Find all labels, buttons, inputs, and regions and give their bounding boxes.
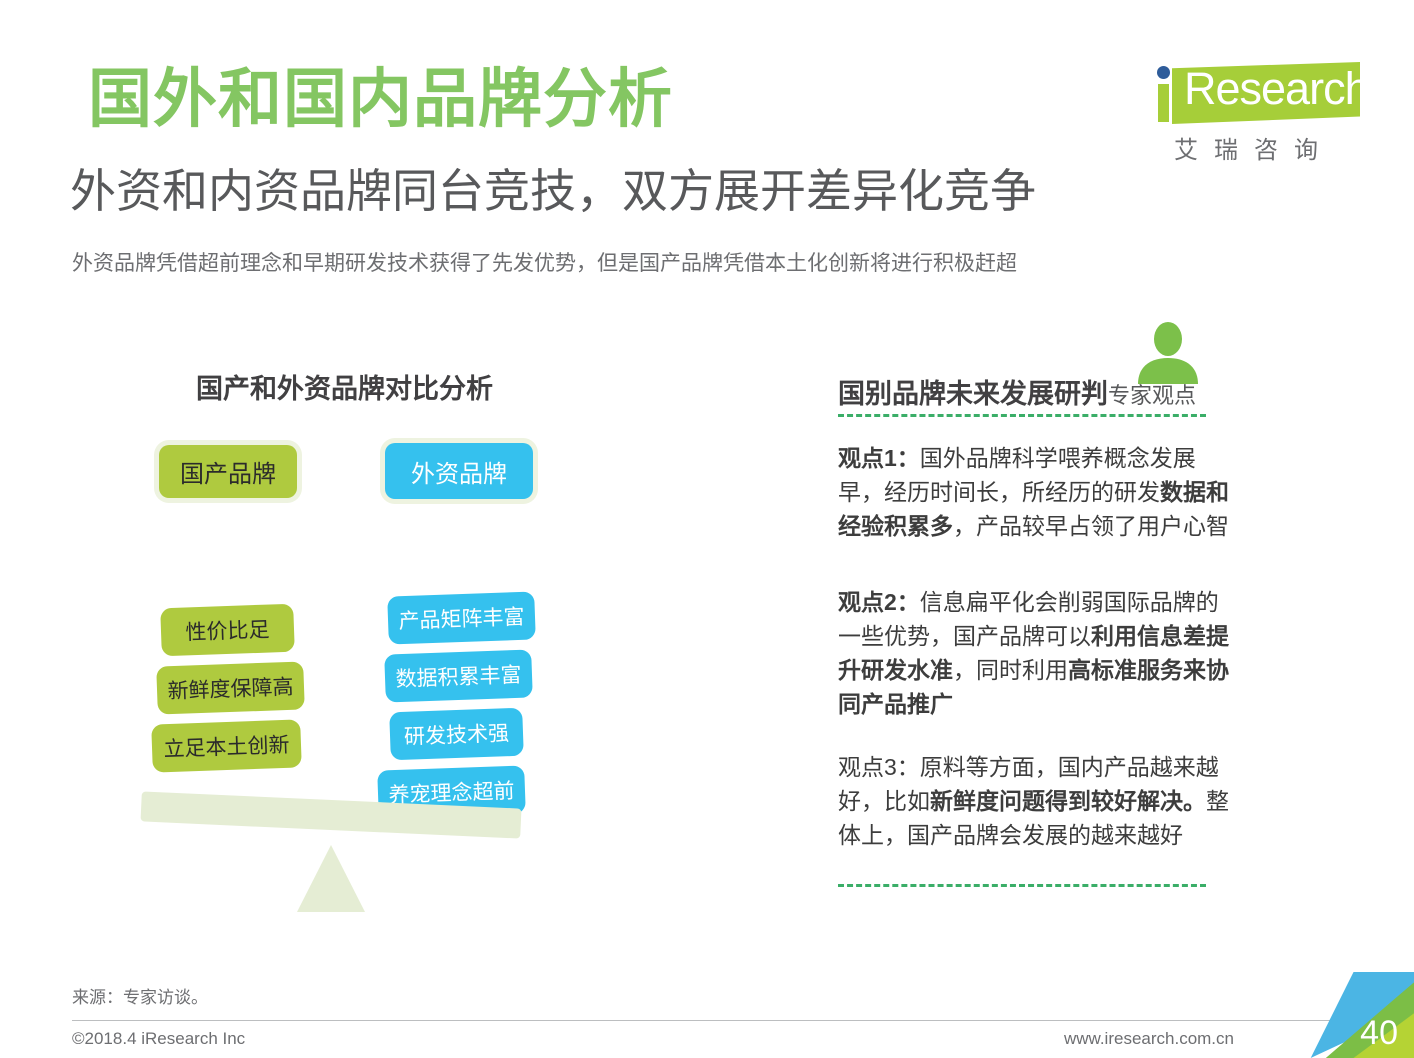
page-subtitle: 外资和内资品牌同台竞技，双方展开差异化竞争 xyxy=(70,166,1036,217)
chip-foreign-1: 产品矩阵丰富 xyxy=(387,591,536,644)
opinion-item-3: 观点3：原料等方面，国内产品越来越好，比如新鲜度问题得到较好解决。整体上，国产品… xyxy=(838,750,1236,852)
opinion-item-1: 观点1：国外品牌科学喂养概念发展早，经历时间长，所经历的研发数据和经验积累多，产… xyxy=(838,441,1236,543)
chip-domestic-2: 新鲜度保障高 xyxy=(156,661,305,714)
website-url: www.iresearch.com.cn xyxy=(1064,1029,1234,1049)
footer-divider xyxy=(72,1020,1350,1021)
right-panel-heading: 国别品牌未来发展研判专家观点 xyxy=(838,372,1196,411)
logo-i-stem xyxy=(1158,84,1169,122)
seesaw-fulcrum xyxy=(297,845,365,912)
source-note: 来源：专家访谈。 xyxy=(72,983,208,1008)
divider-top xyxy=(838,414,1206,417)
chip-domestic-1: 性价比足 xyxy=(160,604,295,657)
page-title: 国外和国内品牌分析 xyxy=(88,66,673,133)
chip-domestic-3: 立足本土创新 xyxy=(151,719,302,772)
opinion-label: 观点1： xyxy=(838,445,920,471)
opinion-label: 观点2： xyxy=(838,589,920,615)
logo-wordmark: Research xyxy=(1184,66,1369,111)
opinion-text: ，同时利用 xyxy=(953,657,1068,683)
logo-i-dot-icon xyxy=(1157,66,1170,79)
opinion-emphasis: 新鲜度问题得到较好解决。 xyxy=(930,788,1206,814)
brand-label-foreign: 外资品牌 xyxy=(385,443,533,499)
slide-canvas: 国外和国内品牌分析 外资和内资品牌同台竞技，双方展开差异化竞争 外资品牌凭借超前… xyxy=(0,0,1414,1058)
left-panel-heading: 国产和外资品牌对比分析 xyxy=(196,367,493,406)
opinion-text: ，产品较早占领了用户心智 xyxy=(953,513,1229,539)
opinion-label: 观点3： xyxy=(838,754,920,780)
logo-wordmark-cn: 艾瑞咨询 xyxy=(1174,130,1334,165)
iresearch-logo: Research 艾瑞咨询 xyxy=(1148,62,1360,166)
page-description: 外资品牌凭借超前理念和早期研发技术获得了先发优势，但是国产品牌凭借本土化创新将进… xyxy=(72,247,1017,277)
page-number: 40 xyxy=(1360,1016,1398,1050)
chip-foreign-2: 数据积累丰富 xyxy=(384,649,533,702)
copyright-text: ©2018.4 iResearch Inc xyxy=(72,1029,245,1049)
right-panel-heading-sub: 专家观点 xyxy=(1108,383,1196,408)
chip-foreign-3: 研发技术强 xyxy=(389,708,524,761)
opinion-item-2: 观点2：信息扁平化会削弱国际品牌的一些优势，国产品牌可以利用信息差提升研发水准，… xyxy=(838,585,1236,721)
right-panel-heading-main: 国别品牌未来发展研判 xyxy=(838,379,1108,409)
brand-label-domestic: 国产品牌 xyxy=(159,445,297,498)
divider-bottom xyxy=(838,884,1206,887)
